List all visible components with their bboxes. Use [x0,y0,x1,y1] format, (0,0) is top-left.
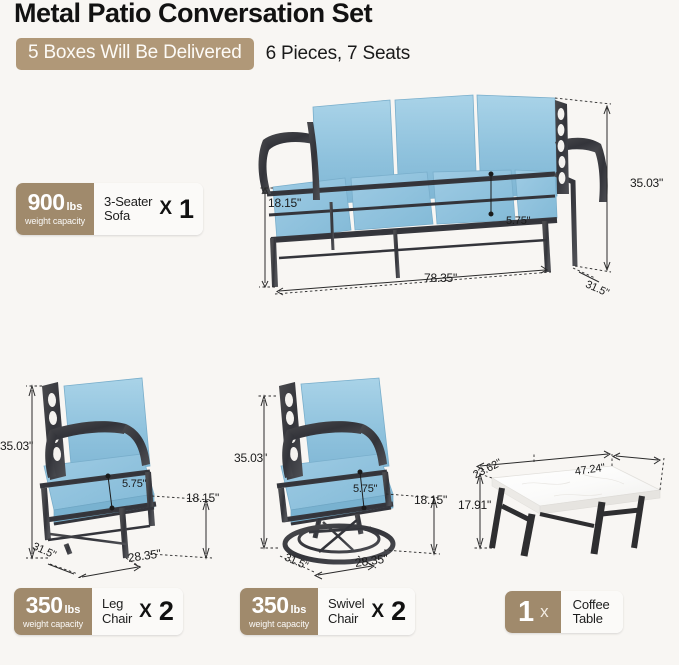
swivel-chair-height-label: 35.03" [234,451,267,465]
sofa-seat-height-label: 18.15" [268,196,301,210]
sofa-multiplier: X [159,198,172,220]
page-title: Metal Patio Conversation Set [14,0,372,29]
sofa-width-label: 78.35" [424,271,457,285]
leg-chair-item-name: Leg Chair [102,597,132,625]
sofa-capacity-value: 900 [28,191,65,214]
sofa-capacity-unit: lbs [67,202,83,213]
coffee-table-height-label: 17.91" [458,498,491,512]
sofa-quantity: 1 [179,196,194,223]
sofa-dimension-guides [255,82,675,307]
sofa-capacity-badge: 900 lbs weight capacity 3-Seater Sofa X … [16,183,203,235]
sofa-item-name: 3-Seater Sofa [104,195,152,223]
sofa-height-label: 35.03" [630,176,663,190]
leg-chair-capacity-badge: 350 lbs weight capacity Leg Chair X 2 [14,588,183,635]
sofa-weight-capacity: 900 lbs weight capacity [16,183,94,235]
leg-chair-seat-height-label: 18.15" [186,491,219,505]
boxes-delivered-badge: 5 Boxes Will Be Delivered [16,38,254,70]
leg-chair-item-info: Leg Chair X 2 [92,588,183,635]
coffee-table-quantity: 1 [518,598,534,627]
leg-chair-weight-capacity: 350 lbs weight capacity [14,588,92,635]
infographic-canvas: Metal Patio Conversation Set 5 Boxes Wil… [0,0,679,665]
sofa-seat-thickness-label: 5.75" [506,215,530,227]
swivel-chair-capacity-label: weight capacity [249,619,309,629]
pieces-seats-label: 6 Pieces, 7 Seats [266,43,410,65]
swivel-chair-seat-thickness-label: 5.75" [353,483,377,495]
swivel-chair-capacity-value: 350 [252,594,289,617]
leg-chair-seat-thickness-label: 5.75" [122,478,146,490]
leg-chair-capacity-label: weight capacity [23,619,83,629]
swivel-chair-item-name: Swivel Chair [328,597,364,625]
leg-chair-height-label: 35.03" [0,439,33,453]
swivel-chair-multiplier: X [371,601,384,623]
leg-chair-capacity-unit: lbs [65,605,81,616]
coffee-table-badge: 1 x Coffee Table [505,591,623,633]
coffee-table-quantity-block: 1 x [505,591,561,633]
leg-chair-multiplier: X [139,601,152,623]
coffee-table-item-name: Coffee Table [573,598,610,626]
swivel-chair-weight-capacity: 350 lbs weight capacity [240,588,318,635]
coffee-table-item-info: Coffee Table [561,591,623,633]
swivel-chair-capacity-badge: 350 lbs weight capacity Swivel Chair X 2 [240,588,415,635]
header-subrow: 5 Boxes Will Be Delivered 6 Pieces, 7 Se… [16,38,410,70]
leg-chair-quantity: 2 [159,598,174,625]
swivel-chair-capacity-unit: lbs [291,605,307,616]
coffee-table-multiplier: x [540,602,549,622]
leg-chair-capacity-value: 350 [26,594,63,617]
sofa-item-info: 3-Seater Sofa X 1 [94,183,203,235]
swivel-chair-quantity: 2 [391,598,406,625]
swivel-chair-dimension-guides [228,370,463,582]
sofa-capacity-label: weight capacity [25,216,85,226]
swivel-chair-seat-height-label: 18.15" [414,493,447,507]
swivel-chair-item-info: Swivel Chair X 2 [318,588,415,635]
